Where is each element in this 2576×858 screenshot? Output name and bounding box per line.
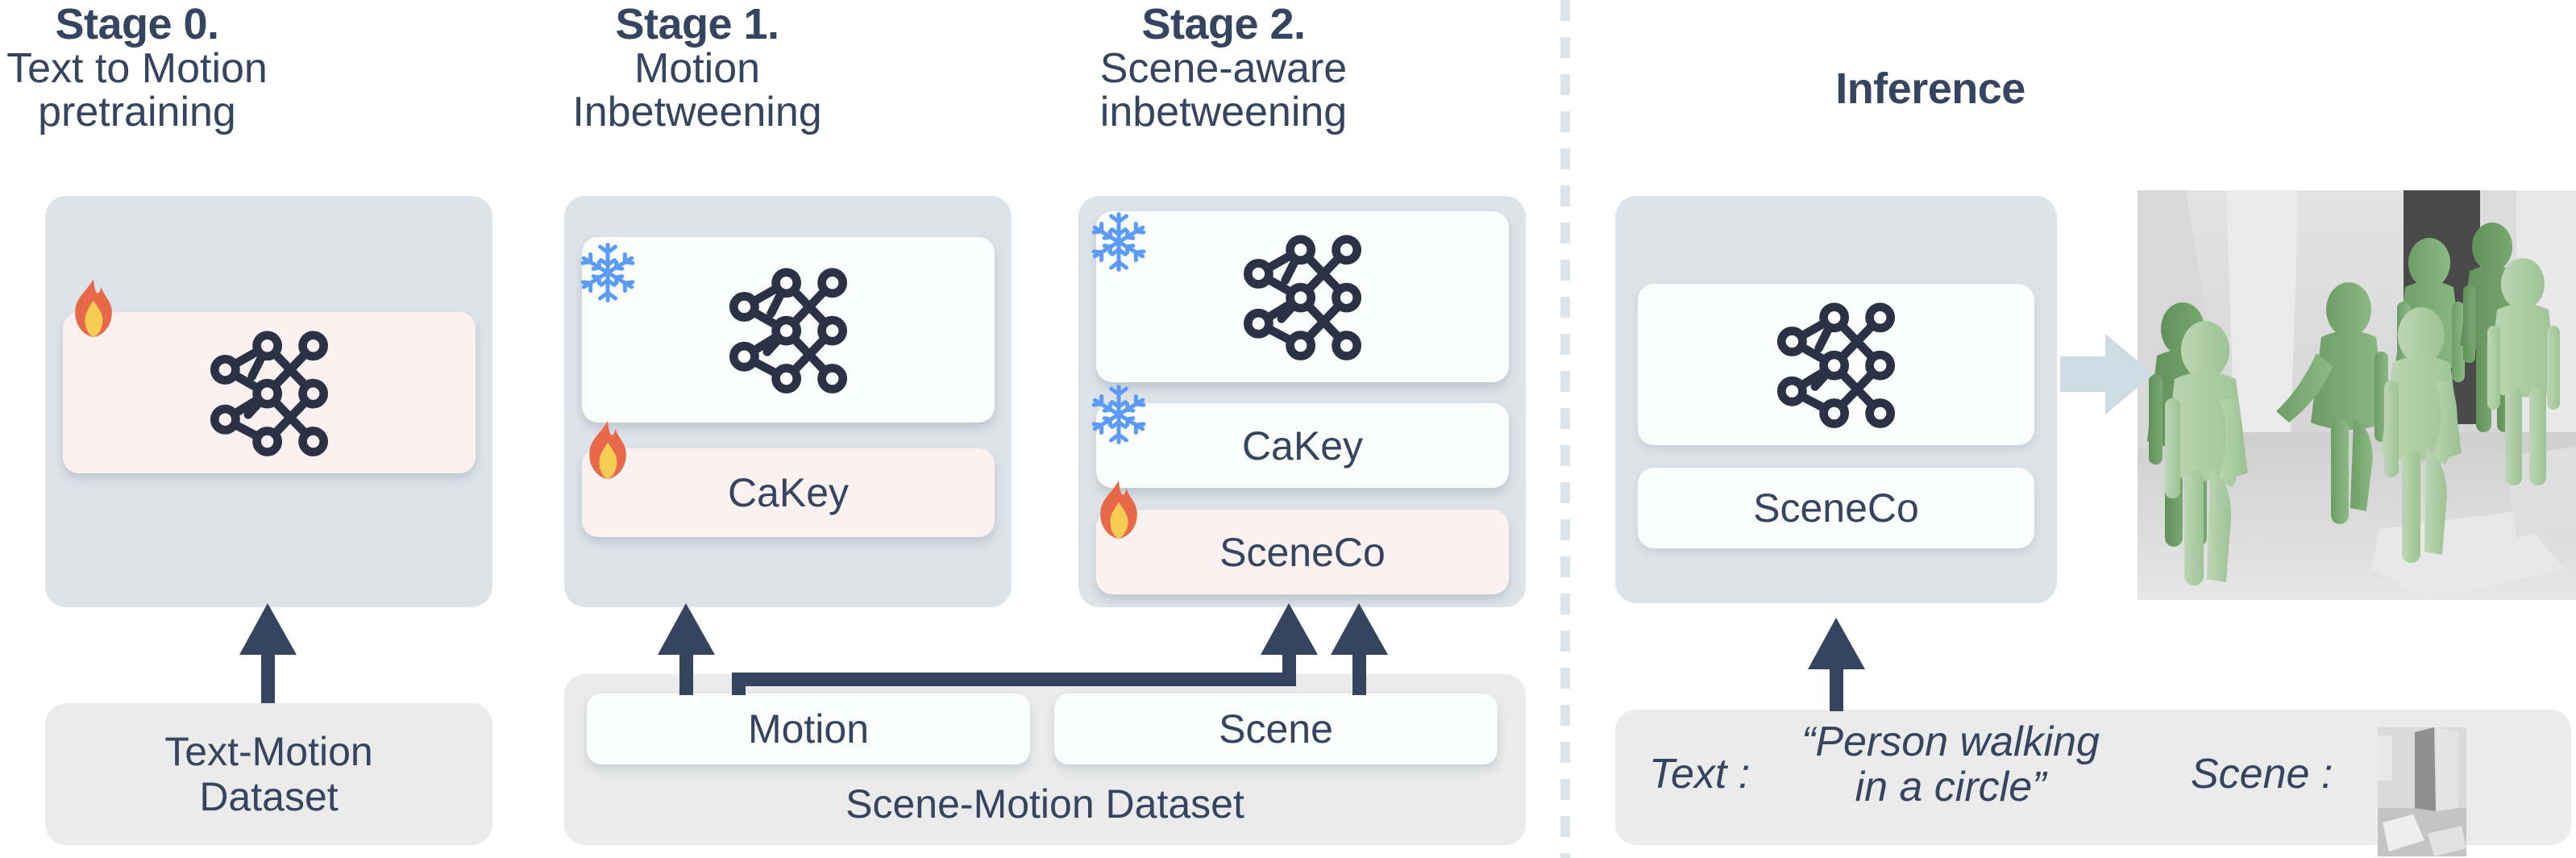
stage2-module-cakey-label: CaKey	[1242, 423, 1363, 469]
stage2-module-network[interactable]	[1096, 211, 1509, 382]
stage2-module-cakey[interactable]: CaKey	[1096, 403, 1509, 488]
stage1-module-network[interactable]	[582, 237, 995, 423]
scene-motion-dataset-item-motion[interactable]: Motion	[587, 693, 1030, 764]
stage0-heading-line2: Text to Motion	[0, 47, 274, 90]
inference-text-value-line1: “Person walking	[1749, 719, 2152, 764]
inference-heading: Inference	[1733, 66, 2128, 111]
inference-module-sceneco-label: SceneCo	[1753, 485, 1919, 531]
inference-heading-label: Inference	[1733, 66, 2128, 111]
stage2-heading-line2: Scene-aware	[1078, 47, 1369, 90]
section-divider	[1560, 0, 1570, 858]
stage2-heading-number: Stage 2.	[1078, 2, 1369, 47]
stage0-module-network[interactable]	[63, 312, 476, 473]
stage1-module-cakey-label: CaKey	[728, 469, 849, 516]
stage2-module-sceneco-label: SceneCo	[1219, 529, 1386, 576]
text-motion-dataset-line2: Dataset	[199, 774, 338, 819]
stage0-heading: Stage 0. Text to Motion pretraining	[0, 2, 274, 134]
neural-network-icon	[1226, 231, 1379, 364]
inference-text-label: Text :	[1649, 750, 1750, 798]
inference-text-value-line2: in a circle”	[1749, 764, 2152, 810]
stage2-heading-line3: inbetweening	[1078, 90, 1369, 134]
stage1-heading-line3: Inbetweening	[564, 90, 830, 134]
inference-module-sceneco[interactable]: SceneCo	[1638, 468, 2034, 548]
neural-network-icon	[1760, 298, 1913, 431]
arrow-dataset-to-stage0	[239, 603, 297, 703]
scene-motion-dataset-label: Scene-Motion Dataset	[564, 781, 1526, 827]
inference-text-value: “Person walking in a circle”	[1749, 719, 2152, 810]
stage2-heading: Stage 2. Scene-aware inbetweening	[1078, 2, 1369, 134]
rendered-result-image	[2138, 190, 2576, 600]
scene-label: Scene	[1219, 706, 1333, 752]
inference-scene-label: Scene :	[2191, 750, 2333, 798]
text-motion-dataset-line1: Text-Motion	[164, 729, 372, 774]
text-label: Text :	[1649, 750, 1750, 798]
neural-network-icon	[193, 327, 346, 460]
stage1-heading-line2: Motion	[564, 47, 830, 90]
stage1-module-cakey[interactable]: CaKey	[582, 448, 995, 537]
text-motion-dataset[interactable]: Text-Motion Dataset	[45, 703, 492, 845]
scene-motion-dataset-item-scene[interactable]: Scene	[1054, 693, 1498, 764]
stage2-module-sceneco[interactable]: SceneCo	[1096, 510, 1509, 594]
motion-label: Motion	[748, 706, 869, 752]
arrow-inputs-to-inference	[1808, 618, 1865, 711]
stage1-heading-number: Stage 1.	[564, 2, 830, 47]
stage1-heading: Stage 1. Motion Inbetweening	[564, 2, 830, 134]
stage0-heading-number: Stage 0.	[0, 2, 274, 47]
neural-network-icon	[712, 264, 865, 397]
inference-module-network[interactable]	[1638, 284, 2034, 445]
stage0-heading-line3: pretraining	[0, 90, 274, 134]
scene-label-inference: Scene :	[2191, 750, 2333, 798]
scene-thumbnail	[2378, 727, 2466, 856]
